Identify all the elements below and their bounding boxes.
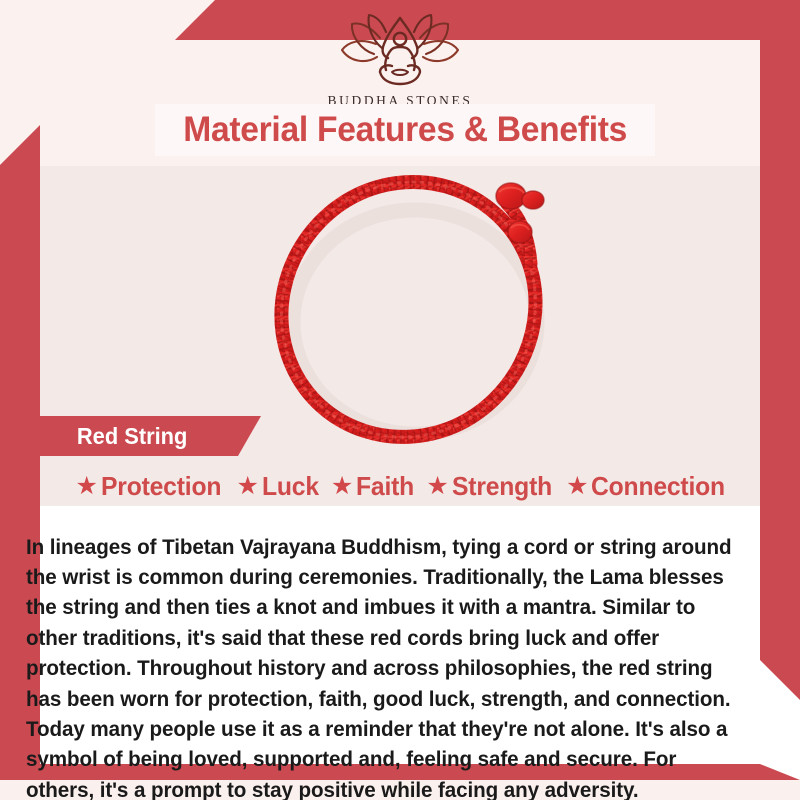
description-paragraph: In lineages of Tibetan Vajrayana Buddhis… [26,532,740,800]
benefit-item-protection: ★ Protection [68,471,228,502]
benefit-label: Faith [356,471,414,502]
page-title-text: Material Features & Benefits [183,110,627,150]
bracelet-knot-lower [508,221,532,243]
bracelet-knot-top [496,183,544,209]
benefit-item-luck: ★ Luck [229,471,322,502]
infographic-poster: BUDDHA STONES Material Features & Benefi… [0,0,800,800]
page-title: Material Features & Benefits [155,104,655,156]
benefit-item-connection: ★ Connection [558,471,732,502]
benefit-item-strength: ★ Strength [418,471,557,502]
benefit-list: ★ Protection ★ Luck ★ Faith ★ Strength ★… [0,466,800,506]
benefit-item-faith: ★ Faith [323,471,418,502]
material-badge: Red String [26,416,261,456]
benefit-label: Strength [452,471,552,502]
star-icon: ★ [76,474,98,499]
material-badge-label: Red String [77,423,187,450]
benefit-label: Luck [262,471,319,502]
red-string-bracelet-icon [245,160,595,460]
star-icon: ★ [426,474,448,499]
lotus-meditation-logo-icon [0,12,800,91]
star-icon: ★ [331,474,353,499]
benefit-label: Protection [101,471,221,502]
brand-logo: BUDDHA STONES [0,12,800,109]
product-image [245,160,595,460]
benefit-label: Connection [591,471,725,502]
star-icon: ★ [566,474,588,499]
star-icon: ★ [237,474,259,499]
